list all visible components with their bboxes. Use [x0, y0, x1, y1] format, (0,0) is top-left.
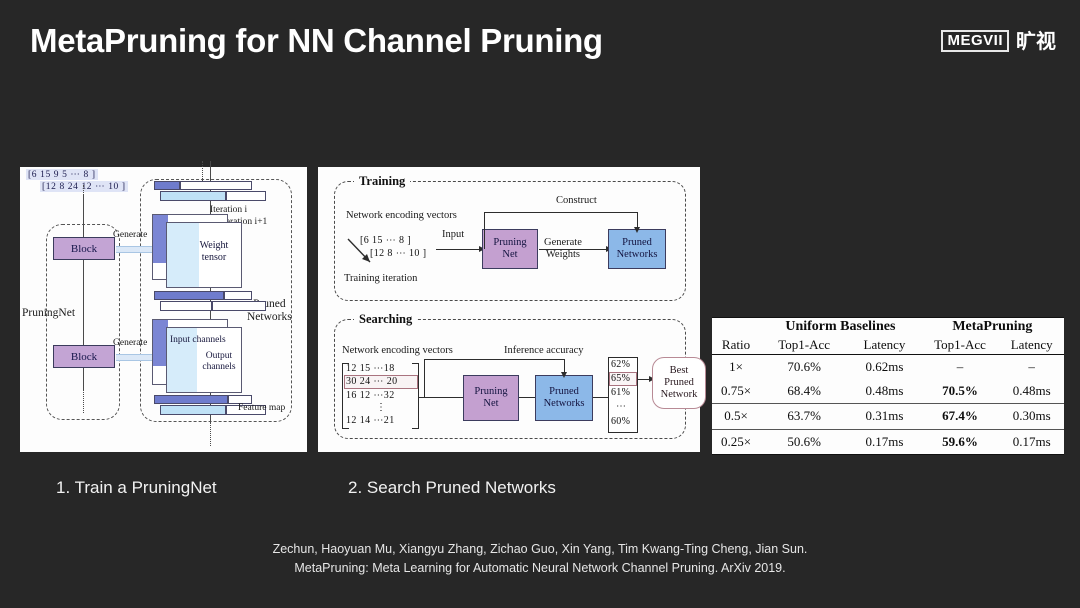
training-pruning-net-label: PruningNet: [493, 237, 526, 261]
input-channels-caption: Input channels: [170, 335, 246, 346]
weight-tensor-stack: Weighttensor: [152, 214, 270, 288]
searching-loop-horizontal: [424, 359, 564, 360]
figure-panel-framework: Training Network encoding vectors [6 15 …: [318, 167, 700, 452]
accuracy-item-1: 65%: [611, 373, 630, 384]
training-iteration-label: Training iteration: [344, 273, 417, 285]
best-pruned-network-node: BestPrunedNetwork: [652, 357, 706, 409]
column-header-baseline-lat: Latency: [848, 336, 921, 355]
generate-label-2: Generate: [113, 338, 147, 349]
cell-meta-acc: 67.4%: [921, 404, 1000, 429]
matrix-bracket-right: [412, 363, 419, 429]
training-generate-arrow-line: [539, 249, 611, 250]
pruningnet-block-1: Block: [53, 237, 115, 260]
results-table-wrapper: Uniform Baselines MetaPruning Ratio Top1…: [712, 317, 1064, 455]
training-section-title: Training: [354, 174, 410, 189]
citation-block: Zechun, Haoyuan Mu, Xiangyu Zhang, Zicha…: [0, 540, 1080, 579]
cell-meta-lat: 0.30ms: [999, 404, 1064, 429]
searching-section-title: Searching: [354, 312, 417, 327]
column-header-meta-acc: Top1-Acc: [921, 336, 1000, 355]
searching-loop-left-riser: [424, 359, 425, 397]
generate-label-1: Generate: [113, 230, 147, 241]
training-input-arrow: [436, 249, 484, 250]
network-axis-dots-top: [202, 161, 203, 183]
pruningnet-spine-dots-top: [83, 185, 84, 197]
cell-meta-lat: 0.17ms: [999, 429, 1064, 454]
training-construct-label: Construct: [556, 195, 597, 207]
training-input-label: Input: [442, 229, 464, 241]
cell-meta-lat: 0.48ms: [999, 379, 1064, 404]
construct-path-left-riser: [484, 212, 485, 249]
group-header-baselines: Uniform Baselines: [760, 318, 921, 337]
matrix-row-0: 12 15 ⋯18: [346, 363, 395, 374]
results-table-panel: Uniform Baselines MetaPruning Ratio Top1…: [712, 317, 1064, 455]
cell-meta-acc: 70.5%: [921, 379, 1000, 404]
cell-ratio: 0.25×: [712, 429, 760, 454]
table-column-header-row: Ratio Top1-Acc Latency Top1-Acc Latency: [712, 336, 1064, 355]
results-table: Uniform Baselines MetaPruning Ratio Top1…: [712, 317, 1064, 455]
feature-map-middle: [154, 291, 274, 315]
accuracy-item-3: ⋯: [616, 401, 626, 412]
cell-ratio: 1×: [712, 355, 760, 380]
cell-baseline-acc: 50.6%: [760, 429, 848, 454]
training-encoding-header: Network encoding vectors: [346, 210, 457, 222]
table-row: 0.25× 50.6% 0.17ms 59.6% 0.17ms: [712, 429, 1064, 454]
output-channels-caption: Outputchannels: [190, 351, 248, 373]
pruningnet-spine-dots-bottom: [83, 389, 84, 413]
training-pruned-networks-label: PrunedNetworks: [617, 237, 658, 261]
column-header-meta-lat: Latency: [999, 336, 1064, 355]
construct-path-horizontal: [484, 212, 637, 213]
network-axis-dots-bottom: [210, 420, 211, 446]
group-header-blank: [712, 318, 760, 337]
cell-ratio: 0.5×: [712, 404, 760, 429]
matrix-row-1: 30 24 ⋯ 20: [346, 376, 398, 387]
column-header-baseline-acc: Top1-Acc: [760, 336, 848, 355]
searching-pruned-networks-label: PrunedNetworks: [544, 386, 585, 410]
searching-input-arrow: [419, 397, 465, 398]
training-iteration-arrow: [346, 237, 380, 269]
figure-panel-pruningnet: [6 15 9 5 ⋯ 8 ] [12 8 24 12 ⋯ 10 ] Pruni…: [20, 167, 307, 452]
pruningnet-block-2: Block: [53, 345, 115, 368]
accuracy-item-2: 61%: [611, 387, 630, 398]
feature-map-top: [154, 181, 274, 205]
best-pruned-network-label: BestPrunedNetwork: [661, 365, 698, 401]
searching-encoding-header: Network encoding vectors: [342, 345, 453, 357]
generate-arrow-1: [116, 246, 154, 253]
megvii-chinese-name: 旷视: [1016, 31, 1056, 51]
cell-meta-lat: –: [999, 355, 1064, 380]
step-2-caption: 2. Search Pruned Networks: [348, 478, 556, 498]
cell-baseline-lat: 0.31ms: [848, 404, 921, 429]
encoding-vector-row-1: [6 15 9 5 ⋯ 8 ]: [26, 169, 98, 180]
accuracy-item-4: 60%: [611, 416, 630, 427]
cell-baseline-acc: 63.7%: [760, 404, 848, 429]
table-row: 0.5× 63.7% 0.31ms 67.4% 0.30ms: [712, 404, 1064, 429]
table-row: 0.75× 68.4% 0.48ms 70.5% 0.48ms: [712, 379, 1064, 404]
matrix-row-3: ⋮: [376, 402, 386, 413]
cell-baseline-lat: 0.17ms: [848, 429, 921, 454]
pruningnet-group-label: PruningNet: [22, 307, 75, 320]
accuracy-item-0: 62%: [611, 359, 630, 370]
megvii-wordmark-icon: MEGVII: [941, 30, 1009, 52]
searching-pruning-net-label: PruningNet: [474, 386, 507, 410]
construct-path-right-drop: [637, 212, 638, 228]
pruningnet-diagram: [6 15 9 5 ⋯ 8 ] [12 8 24 12 ⋯ 10 ] Pruni…: [20, 167, 307, 452]
framework-diagram: Training Network encoding vectors [6 15 …: [318, 167, 700, 452]
cell-baseline-lat: 0.48ms: [848, 379, 921, 404]
page-title: MetaPruning for NN Channel Pruning: [30, 22, 603, 60]
matrix-row-2: 16 12 ⋯32: [346, 390, 395, 401]
channels-tensor-stack: Input channels Outputchannels: [152, 319, 270, 393]
cell-baseline-lat: 0.62ms: [848, 355, 921, 380]
weight-tensor-caption: Weighttensor: [186, 240, 242, 263]
generate-arrow-2: [116, 354, 154, 361]
cell-meta-acc: –: [921, 355, 1000, 380]
cell-baseline-acc: 68.4%: [760, 379, 848, 404]
cell-meta-acc: 59.6%: [921, 429, 1000, 454]
step-1-caption: 1. Train a PruningNet: [56, 478, 217, 498]
table-row: 1× 70.6% 0.62ms – –: [712, 355, 1064, 380]
training-pruned-networks-node: PrunedNetworks: [608, 229, 666, 269]
citation-authors: Zechun, Haoyuan Mu, Xiangyu Zhang, Zicha…: [0, 540, 1080, 559]
citation-paper: MetaPruning: Meta Learning for Automatic…: [0, 559, 1080, 578]
searching-pruning-net-node: PruningNet: [463, 375, 519, 421]
feature-map-label: Feature map: [238, 403, 285, 414]
cell-baseline-acc: 70.6%: [760, 355, 848, 380]
searching-accuracy-header: Inference accuracy: [504, 345, 584, 357]
searching-loop-right-drop: [564, 359, 565, 373]
group-header-metapruning: MetaPruning: [921, 318, 1064, 337]
searching-pruned-networks-node: PrunedNetworks: [535, 375, 593, 421]
table-group-header-row: Uniform Baselines MetaPruning: [712, 318, 1064, 337]
training-pruning-net-node: PruningNet: [482, 229, 538, 269]
megvii-logo: MEGVII 旷视: [941, 30, 1056, 52]
column-header-ratio: Ratio: [712, 336, 760, 355]
cell-ratio: 0.75×: [712, 379, 760, 404]
matrix-row-4: 12 14 ⋯21: [346, 415, 395, 426]
